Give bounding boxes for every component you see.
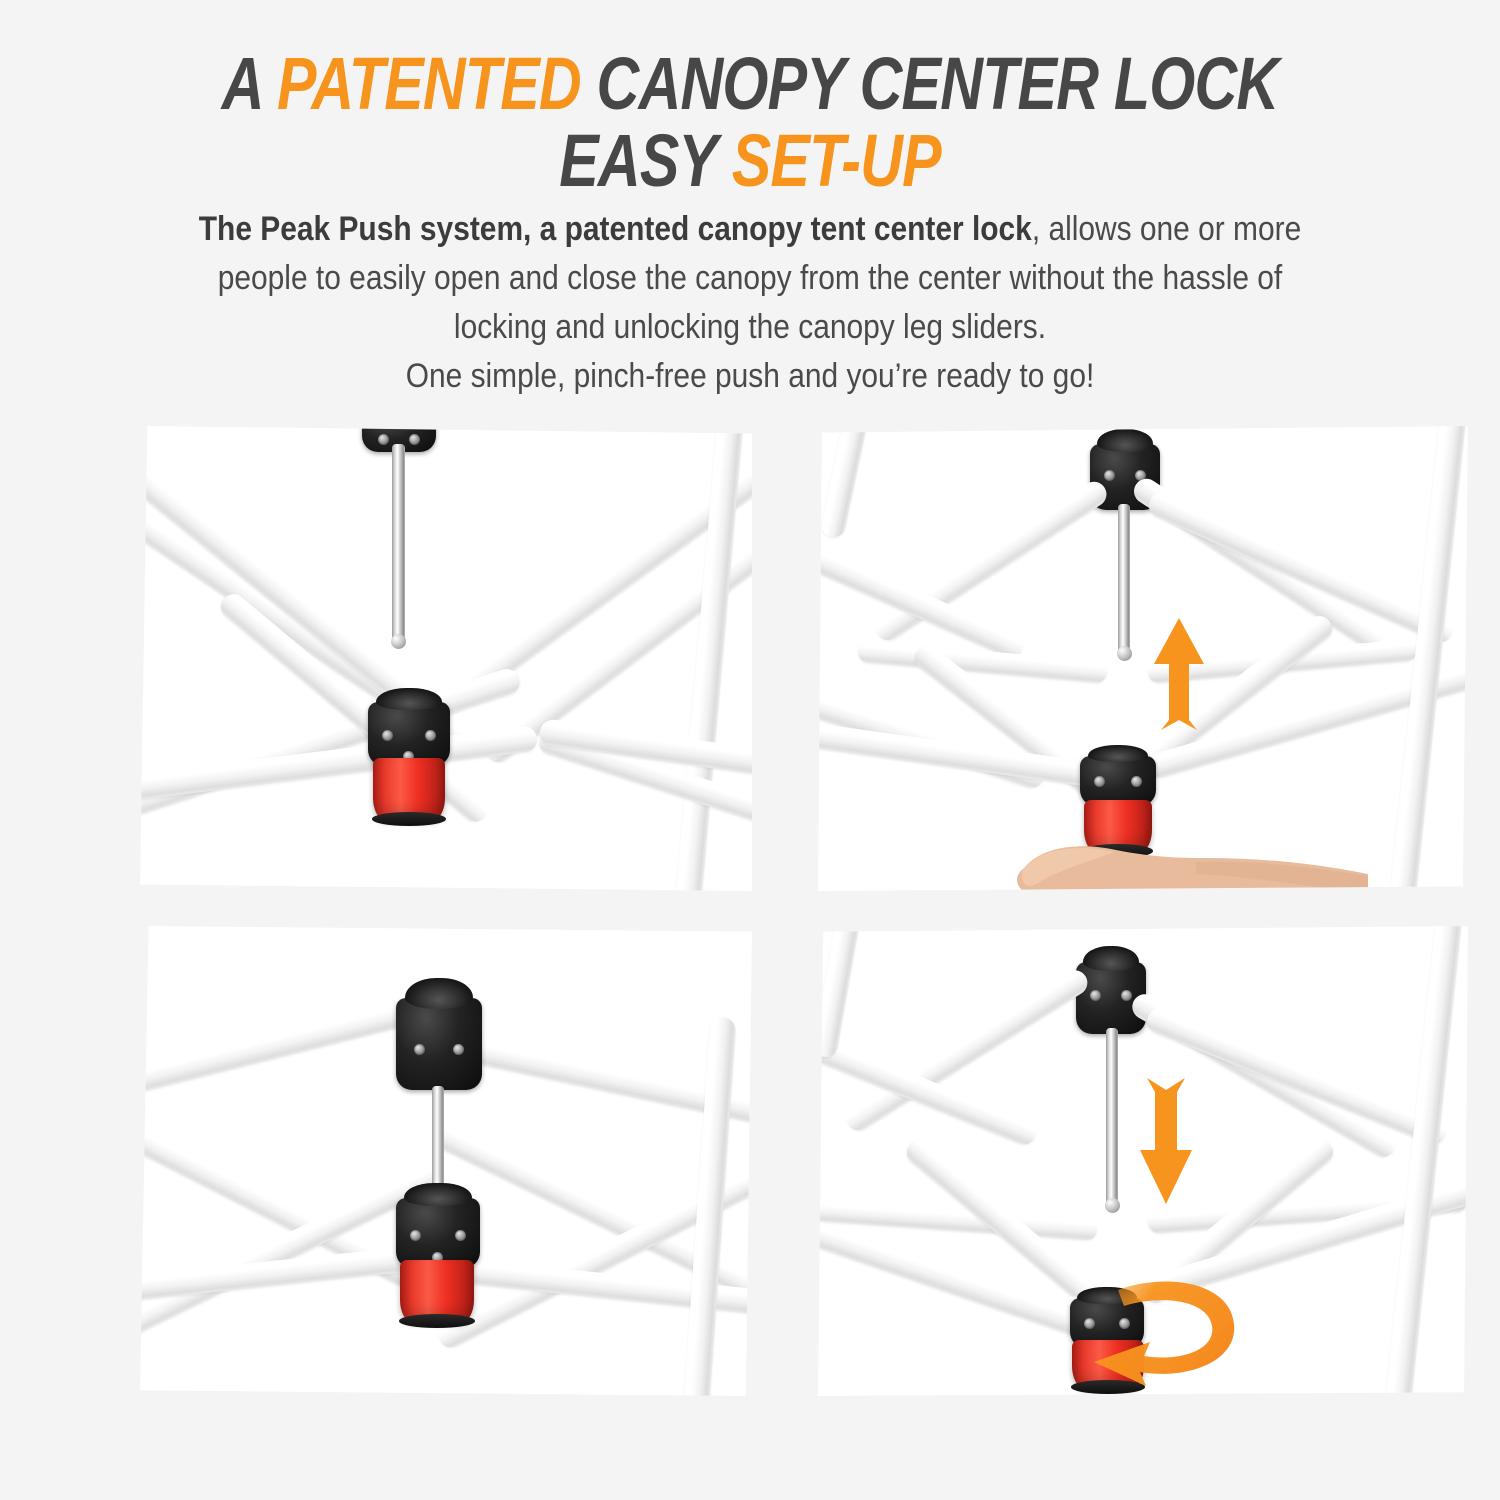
- frame-rafter-tube: [871, 477, 1111, 645]
- panel-3-canopy-locked: [140, 926, 752, 1396]
- description-paragraph: The Peak Push system, a patented canopy …: [81, 205, 1419, 401]
- headline-accent-setup: SET-UP: [732, 119, 941, 202]
- panel-3-scene: [140, 926, 752, 1396]
- description-line-2: people to easily open and close the cano…: [81, 254, 1419, 303]
- center-lock-hub: [396, 1198, 480, 1268]
- hub-screw: [453, 1044, 464, 1055]
- headline-line-1: A PATENTED CANOPY CENTER LOCK: [222, 42, 1279, 125]
- description-lead-in: The Peak Push system, a patented canopy …: [199, 210, 1032, 248]
- panel-4-scene: [818, 926, 1468, 1396]
- push-rod-tip: [1105, 1198, 1120, 1213]
- arrow-down-icon: [1136, 1074, 1196, 1206]
- peak-hub: [396, 998, 482, 1090]
- hub-screw: [425, 730, 436, 741]
- photo-panel-grid: [0, 418, 1500, 1398]
- frame-truss-tube: [818, 1198, 1098, 1241]
- red-center-lock: [373, 758, 445, 820]
- panel-2-scene: [818, 426, 1468, 891]
- headline-text-c: EASY: [559, 119, 732, 202]
- hub-screw: [378, 434, 389, 445]
- hub-screw: [414, 1044, 425, 1055]
- panel-1-canopy-unlocked: [140, 426, 752, 891]
- push-rod: [392, 444, 405, 642]
- headline-text-b: CANOPY CENTER LOCK: [581, 42, 1278, 125]
- hub-screw: [382, 730, 393, 741]
- panel-1-scene: [140, 426, 752, 891]
- center-lock-hub: [1080, 756, 1156, 806]
- red-center-lock: [400, 1260, 474, 1322]
- push-rod-tip: [1117, 646, 1132, 661]
- hub-screw: [1104, 470, 1115, 481]
- hub-screw: [1131, 776, 1142, 787]
- panel-4-hand-twist-down: [818, 926, 1468, 1396]
- headline-line-2: EASY SET-UP: [150, 125, 1350, 196]
- description-line-3: locking and unlocking the canopy leg sli…: [81, 303, 1419, 352]
- headline-accent-patented: PATENTED: [277, 42, 581, 125]
- hub-screw: [1090, 990, 1101, 1001]
- center-lock-hub: [368, 702, 450, 766]
- hands-gripping-lock: [1018, 1362, 1278, 1396]
- hub-screw: [455, 1230, 466, 1241]
- description-line-1: The Peak Push system, a patented canopy …: [81, 205, 1419, 254]
- hand-pushing-up: [996, 818, 1376, 891]
- infographic-page: A PATENTED CANOPY CENTER LOCK EASY SET-U…: [0, 0, 1500, 1500]
- frame-leg-tube: [818, 926, 864, 1059]
- hub-screw: [1094, 776, 1105, 787]
- panel-2-hand-push-up: [818, 426, 1468, 891]
- push-rod-tip: [391, 634, 406, 649]
- frame-leg-tube: [819, 426, 872, 539]
- push-rod: [1118, 504, 1130, 654]
- description-line-4: One simple, pinch-free push and you’re r…: [81, 352, 1419, 401]
- hub-screw: [409, 434, 420, 445]
- headline-text-a: A: [222, 42, 277, 125]
- hub-screw: [1121, 990, 1132, 1001]
- push-rod: [1106, 1028, 1118, 1206]
- page-title: A PATENTED CANOPY CENTER LOCK EASY SET-U…: [150, 48, 1350, 196]
- frame-rafter-tube: [140, 997, 423, 1102]
- description-line-1-rest: , allows one or more: [1032, 210, 1301, 248]
- frame-leg-tube: [1383, 926, 1463, 1396]
- arrow-up-icon: [1150, 616, 1208, 732]
- hub-screw: [410, 1230, 421, 1241]
